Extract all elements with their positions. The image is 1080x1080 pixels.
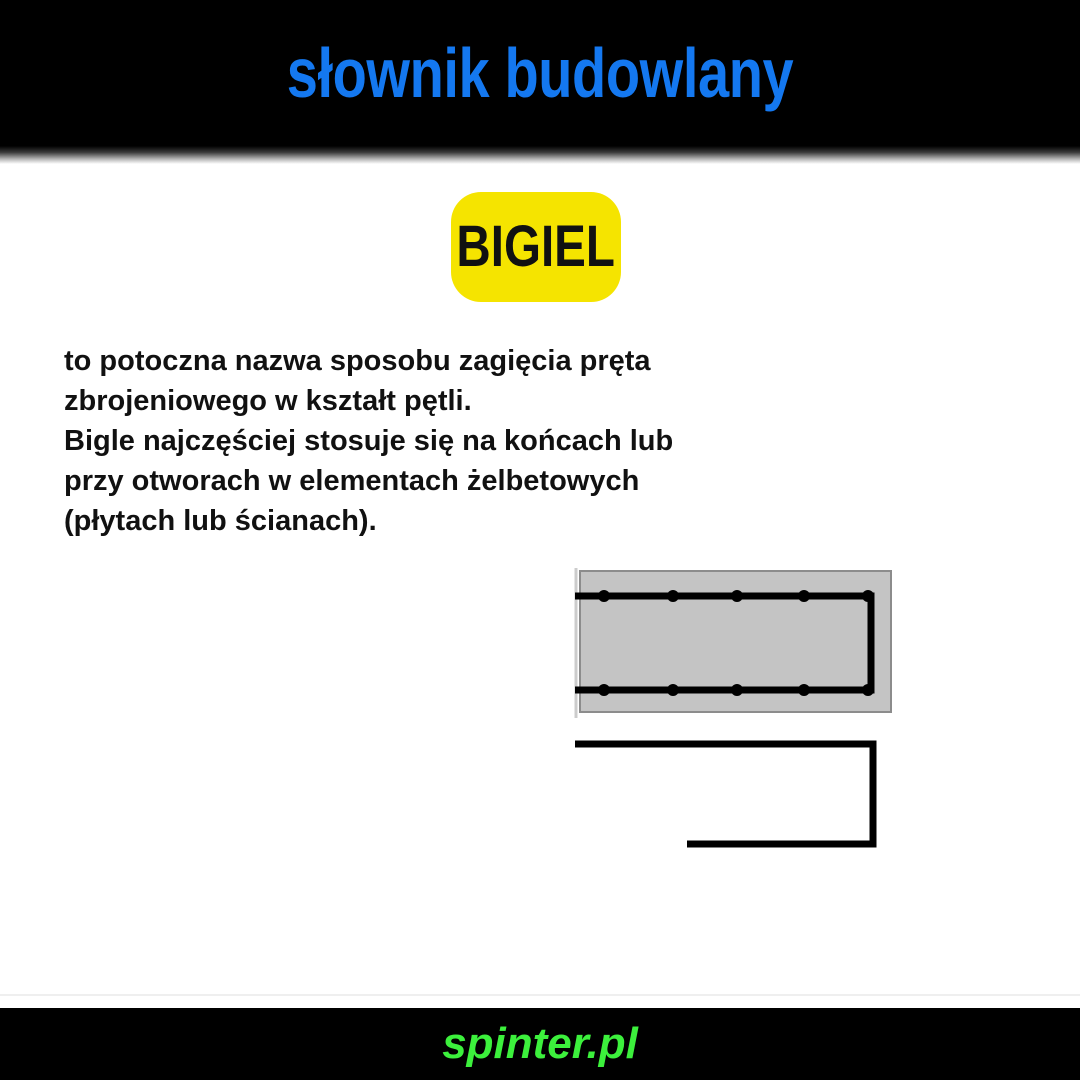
definition-line-5: (płytach lub ścianach). <box>64 501 744 541</box>
page-title: słownik budowlany <box>108 0 972 146</box>
bigiel-detail-shape <box>575 744 873 844</box>
term-badge: BIGIEL <box>451 192 621 302</box>
definition-line-2: zbrojeniowego w kształt pętli. <box>64 381 744 421</box>
rebar-dot <box>598 684 610 696</box>
rebar-dot <box>731 684 743 696</box>
footer-brand: spinter.pl <box>0 1008 1080 1080</box>
term-badge-label: BIGIEL <box>457 218 616 276</box>
rebar-dot <box>667 590 679 602</box>
rebar-dot <box>598 590 610 602</box>
rebar-dot <box>862 590 874 602</box>
definition-text: to potoczna nazwa sposobu zagięcia pręta… <box>64 341 744 541</box>
footer-divider <box>0 994 1080 996</box>
rebar-dot <box>798 590 810 602</box>
definition-line-1: to potoczna nazwa sposobu zagięcia pręta <box>64 341 744 381</box>
rebar-dot <box>798 684 810 696</box>
definition-line-4: przy otworach w elementach żelbetowych <box>64 461 744 501</box>
header-gradient-divider <box>0 146 1080 164</box>
definition-line-3: Bigle najczęściej stosuje się na końcach… <box>64 421 744 461</box>
rebar-dot <box>667 684 679 696</box>
rebar-dot <box>862 684 874 696</box>
rebar-dot <box>731 590 743 602</box>
